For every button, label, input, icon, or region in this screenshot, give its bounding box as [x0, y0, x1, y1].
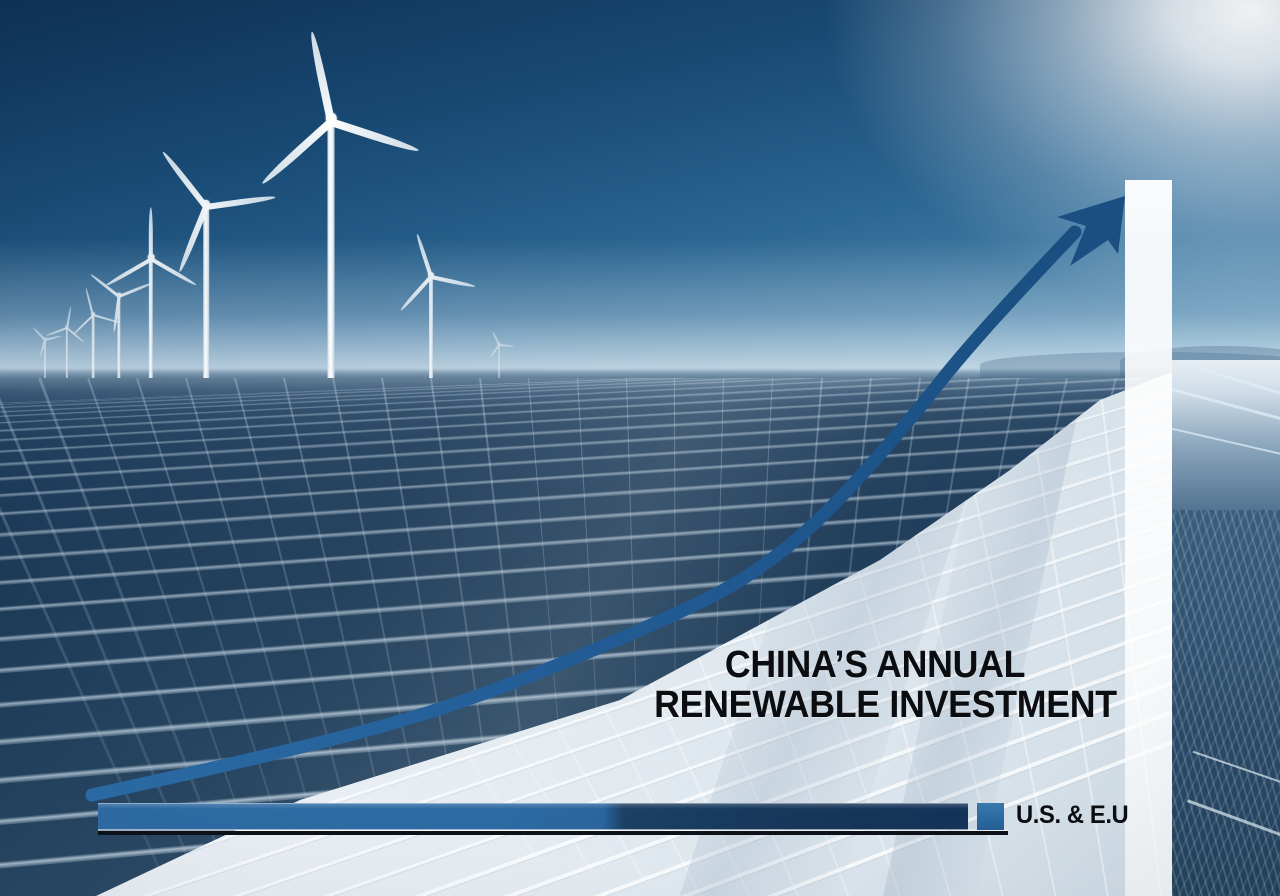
- infographic-canvas: CHINA’S ANNUAL RENEWABLE INVESTMENT U.S.…: [0, 0, 1280, 896]
- vignette-overlay: [0, 0, 1280, 896]
